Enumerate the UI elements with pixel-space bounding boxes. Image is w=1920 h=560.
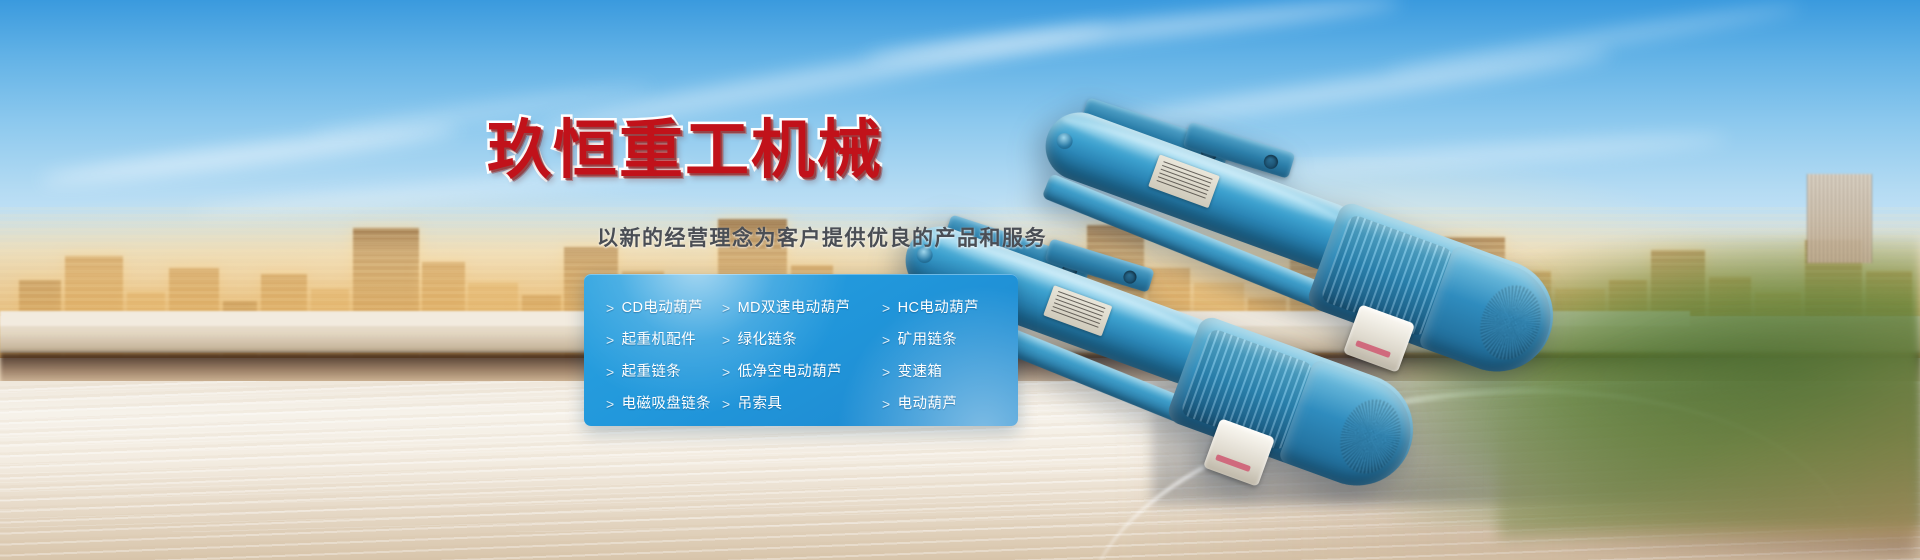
product-link-magnetic-chuck-chain[interactable]: > 电磁吸盘链条 [606, 388, 722, 420]
chevron-right-icon: > [722, 365, 731, 379]
company-headline: 玖恒重工机械 [487, 118, 883, 182]
chevron-right-icon: > [722, 301, 731, 315]
product-links-panel: > CD电动葫芦 > MD双速电动葫芦 > HC电动葫芦 > 起重机配件 > [584, 274, 1018, 426]
product-link-label: HC电动葫芦 [898, 301, 979, 316]
product-link-label: 变速箱 [898, 365, 943, 380]
product-link-label: 绿化链条 [738, 333, 798, 348]
product-link-electric-hoist[interactable]: > 电动葫芦 [864, 388, 1018, 420]
product-link-label: MD双速电动葫芦 [738, 301, 851, 316]
product-links-grid: > CD电动葫芦 > MD双速电动葫芦 > HC电动葫芦 > 起重机配件 > [584, 292, 1018, 420]
product-link-landscape-chain[interactable]: > 绿化链条 [722, 324, 864, 356]
product-link-slings[interactable]: > 吊索具 [722, 388, 864, 420]
product-link-low-headroom-hoist[interactable]: > 低净空电动葫芦 [722, 356, 864, 388]
promo-banner: 玖恒重工机械 以新的经营理念为客户提供优良的产品和服务 > CD电动葫芦 > M… [0, 0, 1920, 560]
product-link-crane-parts[interactable]: > 起重机配件 [606, 324, 722, 356]
company-tagline: 以新的经营理念为客户提供优良的产品和服务 [597, 222, 1047, 252]
chevron-right-icon: > [606, 397, 615, 411]
chevron-right-icon: > [882, 333, 891, 347]
product-link-md-dual-speed-hoist[interactable]: > MD双速电动葫芦 [722, 292, 864, 324]
product-link-label: CD电动葫芦 [622, 301, 703, 316]
chevron-right-icon: > [606, 333, 615, 347]
product-link-label: 矿用链条 [898, 333, 958, 348]
product-link-label: 低净空电动葫芦 [738, 365, 842, 380]
chevron-right-icon: > [882, 301, 891, 315]
product-link-label: 起重机配件 [622, 333, 697, 348]
product-link-label: 电磁吸盘链条 [622, 397, 711, 412]
product-link-gearbox[interactable]: > 变速箱 [864, 356, 1018, 388]
chevron-right-icon: > [882, 397, 891, 411]
chevron-right-icon: > [722, 397, 731, 411]
chevron-right-icon: > [882, 365, 891, 379]
product-link-label: 起重链条 [622, 365, 682, 380]
chevron-right-icon: > [606, 301, 615, 315]
product-link-label: 电动葫芦 [898, 397, 958, 412]
banner-content: 玖恒重工机械 以新的经营理念为客户提供优良的产品和服务 > CD电动葫芦 > M… [0, 0, 1920, 560]
product-link-label: 吊索具 [738, 397, 783, 412]
product-link-hc-hoist[interactable]: > HC电动葫芦 [864, 292, 1018, 324]
product-link-cd-hoist[interactable]: > CD电动葫芦 [606, 292, 722, 324]
chevron-right-icon: > [722, 333, 731, 347]
chevron-right-icon: > [606, 365, 615, 379]
product-link-lifting-chain[interactable]: > 起重链条 [606, 356, 722, 388]
product-link-mining-chain[interactable]: > 矿用链条 [864, 324, 1018, 356]
